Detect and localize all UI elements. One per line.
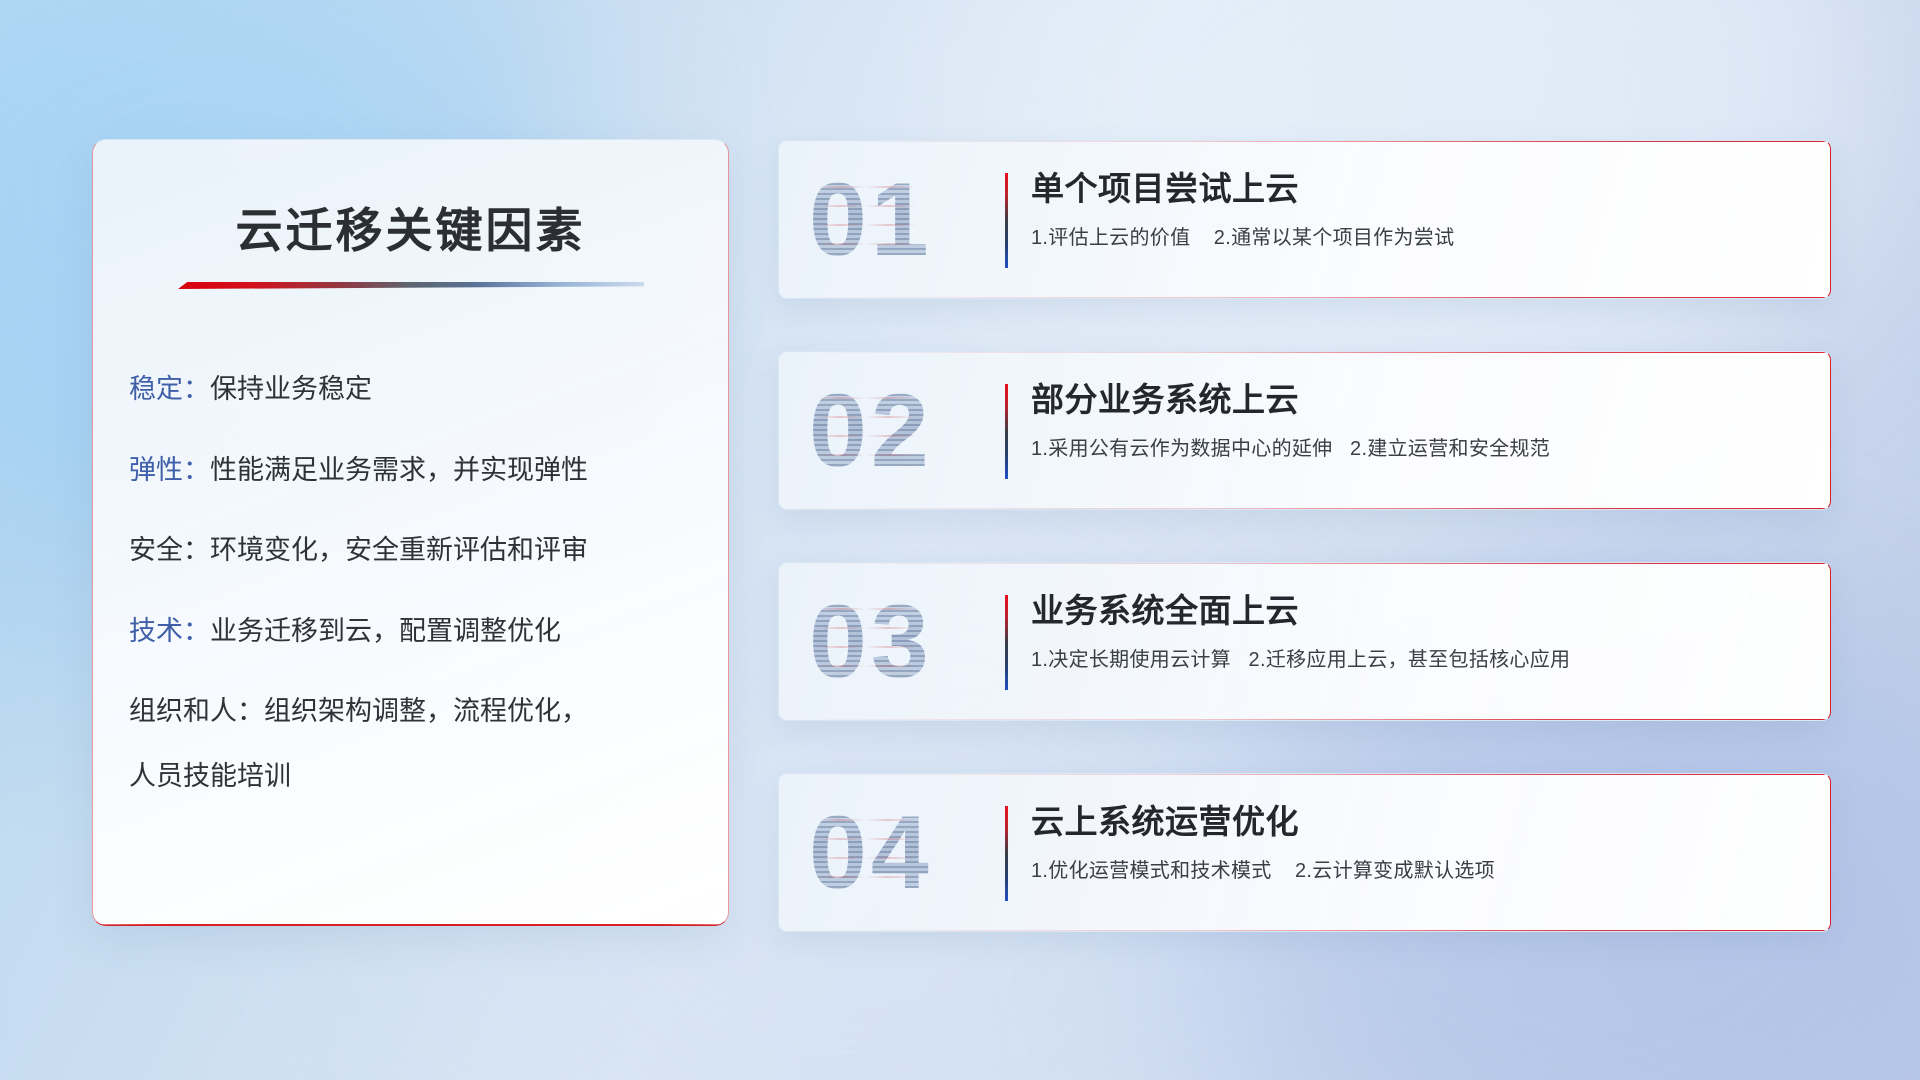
stage-card-03[interactable]: 03 业务系统全面上云 1.决定长期使用云计算 2.迁移应用上云，甚至包括核心应…: [778, 562, 1831, 721]
list-item: 弹性：性能满足业务需求，并实现弹性: [129, 453, 702, 488]
stage-number-text: 03: [809, 584, 933, 700]
stage-accent-bar: [1005, 595, 1008, 690]
stage-number-01: 01: [809, 168, 933, 272]
stage-number-text: 02: [809, 373, 933, 489]
stage-content: 部分业务系统上云 1.采用公有云作为数据中心的延伸 2.建立运营和安全规范: [1031, 380, 1804, 461]
list-item-continuation: 人员技能培训: [129, 759, 702, 794]
stage-title: 云上系统运营优化: [1031, 802, 1804, 842]
stage-title: 单个项目尝试上云: [1031, 169, 1804, 209]
list-item-text: 组织架构调整，流程优化，: [264, 696, 588, 726]
list-item-text: 环境变化，安全重新评估和评审: [210, 535, 588, 565]
stage-content: 单个项目尝试上云 1.评估上云的价值 2.通常以某个项目作为尝试: [1031, 169, 1804, 250]
list-item: 安全：环境变化，安全重新评估和评审: [129, 533, 702, 568]
stage-accent-bar: [1005, 384, 1008, 479]
stage-accent-bar: [1005, 173, 1008, 268]
stage-description: 1.优化运营模式和技术模式 2.云计算变成默认选项: [1031, 854, 1804, 883]
page-title: 云迁移关键因素: [93, 192, 728, 261]
list-item-text: 性能满足业务需求，并实现弹性: [210, 455, 588, 485]
stage-number-04: 04: [809, 801, 933, 905]
list-item-label: 安全：: [129, 535, 210, 565]
stage-card-01[interactable]: 01 单个项目尝试上云 1.评估上云的价值 2.通常以某个项目作为尝试: [778, 140, 1831, 299]
stage-description: 1.决定长期使用云计算 2.迁移应用上云，甚至包括核心应用: [1031, 643, 1804, 672]
list-item-label: 组织和人：: [129, 696, 264, 726]
key-factors-card: 云迁移关键因素 稳定：保持业务稳定 弹性：性能满足业务需求，并实现弹性 安全：环…: [92, 139, 729, 926]
stage-content: 云上系统运营优化 1.优化运营模式和技术模式 2.云计算变成默认选项: [1031, 802, 1804, 883]
stage-card-02[interactable]: 02 部分业务系统上云 1.采用公有云作为数据中心的延伸 2.建立运营和安全规范: [778, 351, 1831, 510]
stage-description: 1.评估上云的价值 2.通常以某个项目作为尝试: [1031, 221, 1804, 250]
stage-description: 1.采用公有云作为数据中心的延伸 2.建立运营和安全规范: [1031, 432, 1804, 461]
stage-number-text: 01: [809, 162, 933, 278]
stage-card-04[interactable]: 04 云上系统运营优化 1.优化运营模式和技术模式 2.云计算变成默认选项: [778, 773, 1831, 932]
slide-canvas: 云迁移关键因素 稳定：保持业务稳定 弹性：性能满足业务需求，并实现弹性 安全：环…: [0, 0, 1920, 1080]
list-item-text: 人员技能培训: [129, 761, 291, 791]
migration-stages-list: 01 单个项目尝试上云 1.评估上云的价值 2.通常以某个项目作为尝试 02 部…: [778, 140, 1831, 932]
key-factors-list: 稳定：保持业务稳定 弹性：性能满足业务需求，并实现弹性 安全：环境变化，安全重新…: [129, 372, 702, 793]
stage-content: 业务系统全面上云 1.决定长期使用云计算 2.迁移应用上云，甚至包括核心应用: [1031, 591, 1804, 672]
stage-accent-bar: [1005, 806, 1008, 901]
list-item: 组织和人：组织架构调整，流程优化，: [129, 694, 702, 729]
title-underline-accent: [178, 282, 644, 289]
list-item: 稳定：保持业务稳定: [129, 372, 702, 407]
stage-number-03: 03: [809, 590, 933, 694]
list-item-label: 技术：: [129, 616, 210, 646]
stage-title: 部分业务系统上云: [1031, 380, 1804, 420]
list-item-text: 业务迁移到云，配置调整优化: [210, 616, 561, 646]
stage-number-02: 02: [809, 379, 933, 483]
list-item: 技术：业务迁移到云，配置调整优化: [129, 614, 702, 649]
list-item-label: 弹性：: [129, 455, 210, 485]
stage-title: 业务系统全面上云: [1031, 591, 1804, 631]
stage-number-text: 04: [809, 795, 933, 911]
list-item-text: 保持业务稳定: [210, 374, 372, 404]
list-item-label: 稳定：: [129, 374, 210, 404]
